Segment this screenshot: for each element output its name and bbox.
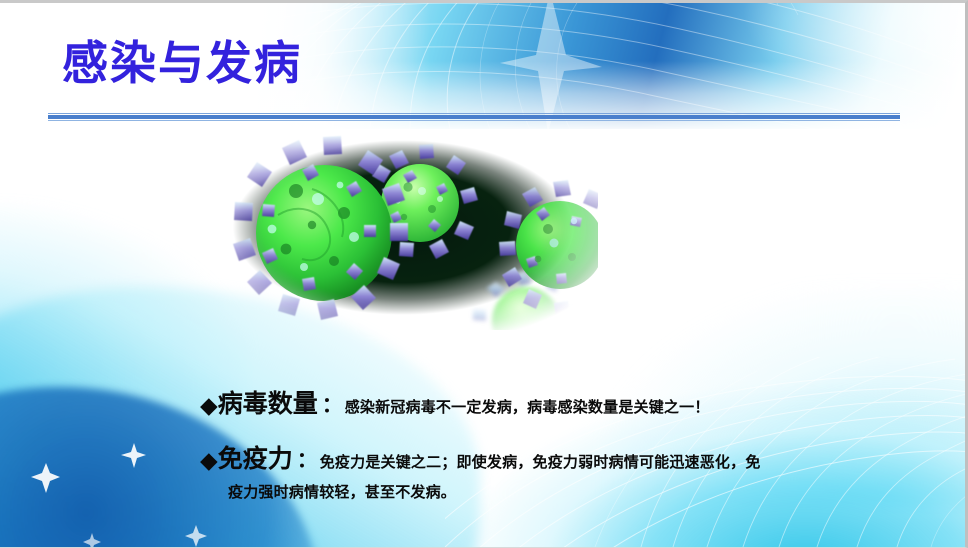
divider-line-bottom: [48, 120, 900, 121]
slide-title: 感染与发病: [62, 35, 302, 91]
top-arc-mesh-decoration: [250, 3, 965, 129]
bullet-body-text: 感染新冠病毒不一定发病，病毒感染数量是关键之一！: [345, 398, 710, 416]
bullet-item-virus-quantity: ◆病毒数量：感染新冠病毒不一定发病，病毒感染数量是关键之一！: [200, 389, 840, 422]
divider-line-top: [48, 113, 900, 114]
divider-line-main: [48, 115, 900, 119]
bullet-line: ◆病毒数量：感染新冠病毒不一定发病，病毒感染数量是关键之一！: [200, 389, 840, 422]
diamond-bullet-icon: ◆: [200, 448, 218, 474]
diamond-bullet-icon: ◆: [200, 393, 218, 419]
bullet-line: ◆免疫力：免疫力是关键之二；即使发病，免疫力弱时病情可能迅速恶化，免: [200, 444, 840, 477]
bullet-body-continuation: 疫力强时病情较轻，甚至不发病。: [200, 477, 840, 507]
bullet-colon: ：: [318, 393, 345, 417]
bullet-list: ◆病毒数量：感染新冠病毒不一定发病，病毒感染数量是关键之一！ ◆免疫力：免疫力是…: [200, 389, 840, 529]
title-divider: [48, 113, 900, 122]
virus-illustration: [208, 125, 598, 330]
top-blue-band: [250, 3, 965, 129]
bullet-colon: ：: [293, 448, 320, 472]
coronavirus-particles-image: [208, 125, 598, 330]
top-band-bottom-fade: [250, 61, 965, 133]
presentation-slide: 感染与发病: [0, 0, 968, 548]
bullet-item-immunity: ◆免疫力：免疫力是关键之二；即使发病，免疫力弱时病情可能迅速恶化，免 疫力强时病…: [200, 444, 840, 507]
bullet-heading: 病毒数量: [218, 389, 318, 418]
bullet-body-text: 免疫力是关键之二；即使发病，免疫力弱时病情可能迅速恶化，免: [320, 453, 761, 471]
bullet-heading: 免疫力: [218, 444, 293, 473]
